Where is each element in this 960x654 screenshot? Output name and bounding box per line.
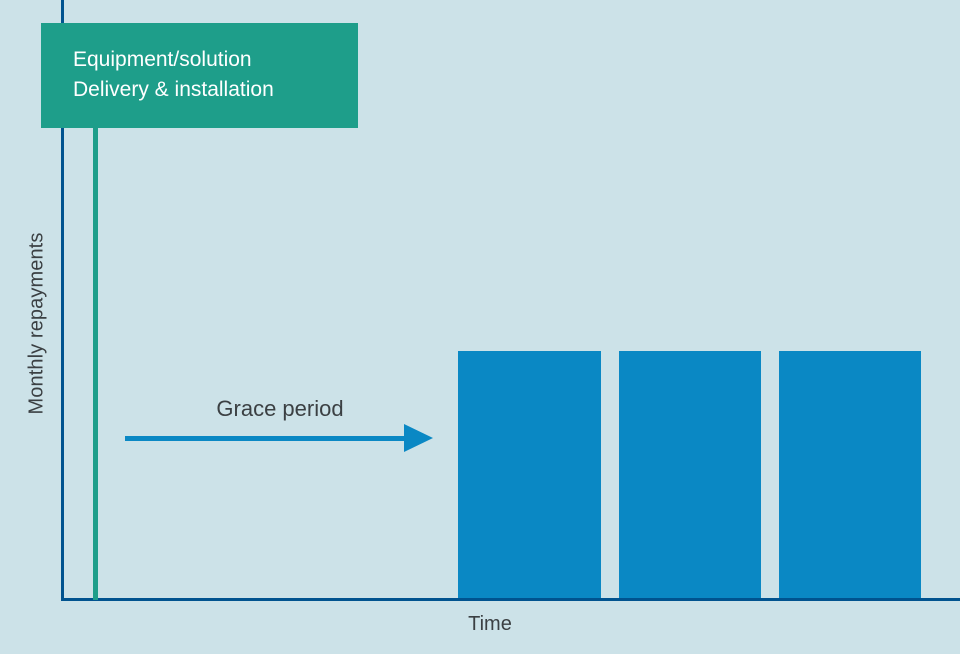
repayment-bar-3 (779, 351, 921, 598)
grace-period-arrow-shaft (125, 436, 410, 441)
delivery-callout-line-1: Equipment/solution (73, 45, 358, 75)
x-axis-line (61, 598, 960, 601)
grace-period-arrow-head-icon (404, 424, 433, 452)
repayment-bar-1 (458, 351, 601, 598)
grace-period-label: Grace period (150, 396, 410, 422)
delivery-callout-box: Equipment/solution Delivery & installati… (41, 23, 358, 128)
y-axis-title: Monthly repayments (26, 194, 49, 454)
repayment-schedule-chart: Monthly repayments Time Equipment/soluti… (0, 0, 960, 654)
repayment-bar-2 (619, 351, 761, 598)
x-axis-title: Time (420, 613, 560, 636)
delivery-callout-line-2: Delivery & installation (73, 75, 358, 105)
